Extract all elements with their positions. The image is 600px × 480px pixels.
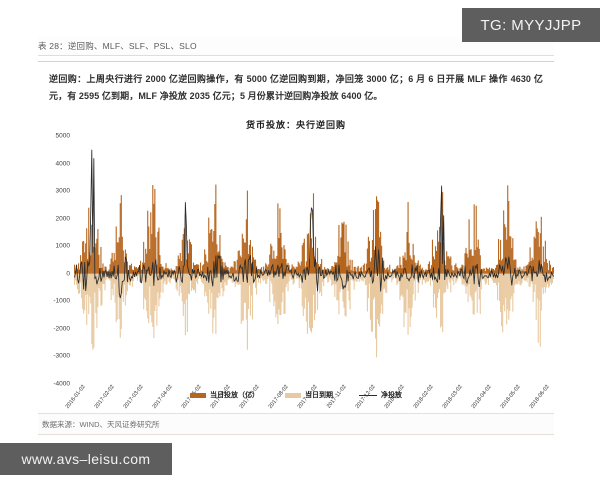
report-page: 表 28：逆回购、MLF、SLF、PSL、SLO 逆回购：上周央行进行 2000… [0, 0, 600, 480]
plot-area: 500040003000200010000-1000-2000-3000-400… [38, 136, 554, 384]
legend-item[interactable]: 净投放 [359, 390, 402, 400]
legend-line-swatch [359, 395, 377, 396]
y-axis-tick: -3000 [53, 353, 70, 360]
y-axis-tick: -4000 [53, 381, 70, 388]
y-axis-tick: 4000 [56, 160, 70, 167]
chart-card: 货币投放：央行逆回购 500040003000200010000-1000-20… [38, 110, 554, 428]
y-axis-tick: -1000 [53, 298, 70, 305]
y-axis-tick: 1000 [56, 243, 70, 250]
data-source: 数据来源：WIND、天风证券研究所 [38, 413, 554, 435]
chart-title: 货币投放：央行逆回购 [38, 118, 554, 131]
legend-bar-swatch [285, 393, 301, 398]
legend-item[interactable]: 当日投放（亿） [190, 390, 259, 400]
y-axis-tick: 3000 [56, 188, 70, 195]
plot-canvas [74, 136, 554, 384]
y-axis-tick: -2000 [53, 325, 70, 332]
y-axis-tick: 2000 [56, 215, 70, 222]
chart-legend: 当日投放（亿）当日到期净投放 [38, 390, 554, 400]
chart-svg [74, 136, 554, 384]
legend-bar-swatch [190, 393, 206, 398]
site-watermark: www.avs–leisu.com [0, 443, 172, 475]
legend-label: 净投放 [381, 390, 402, 400]
y-axis: 500040003000200010000-1000-2000-3000-400… [38, 136, 74, 384]
y-axis-tick: 0 [66, 270, 70, 277]
legend-item[interactable]: 当日到期 [285, 390, 333, 400]
bar-series [74, 274, 554, 358]
y-axis-tick: 5000 [56, 133, 70, 140]
summary-box: 逆回购：上周央行进行 2000 亿逆回购操作，有 5000 亿逆回购到期，净回笼… [38, 61, 554, 115]
legend-label: 当日到期 [305, 390, 333, 400]
legend-label: 当日投放（亿） [210, 390, 259, 400]
telegram-watermark: TG: MYYJJPP [462, 8, 600, 42]
summary-text: 逆回购：上周央行进行 2000 亿逆回购操作，有 5000 亿逆回购到期，净回笼… [49, 71, 543, 104]
